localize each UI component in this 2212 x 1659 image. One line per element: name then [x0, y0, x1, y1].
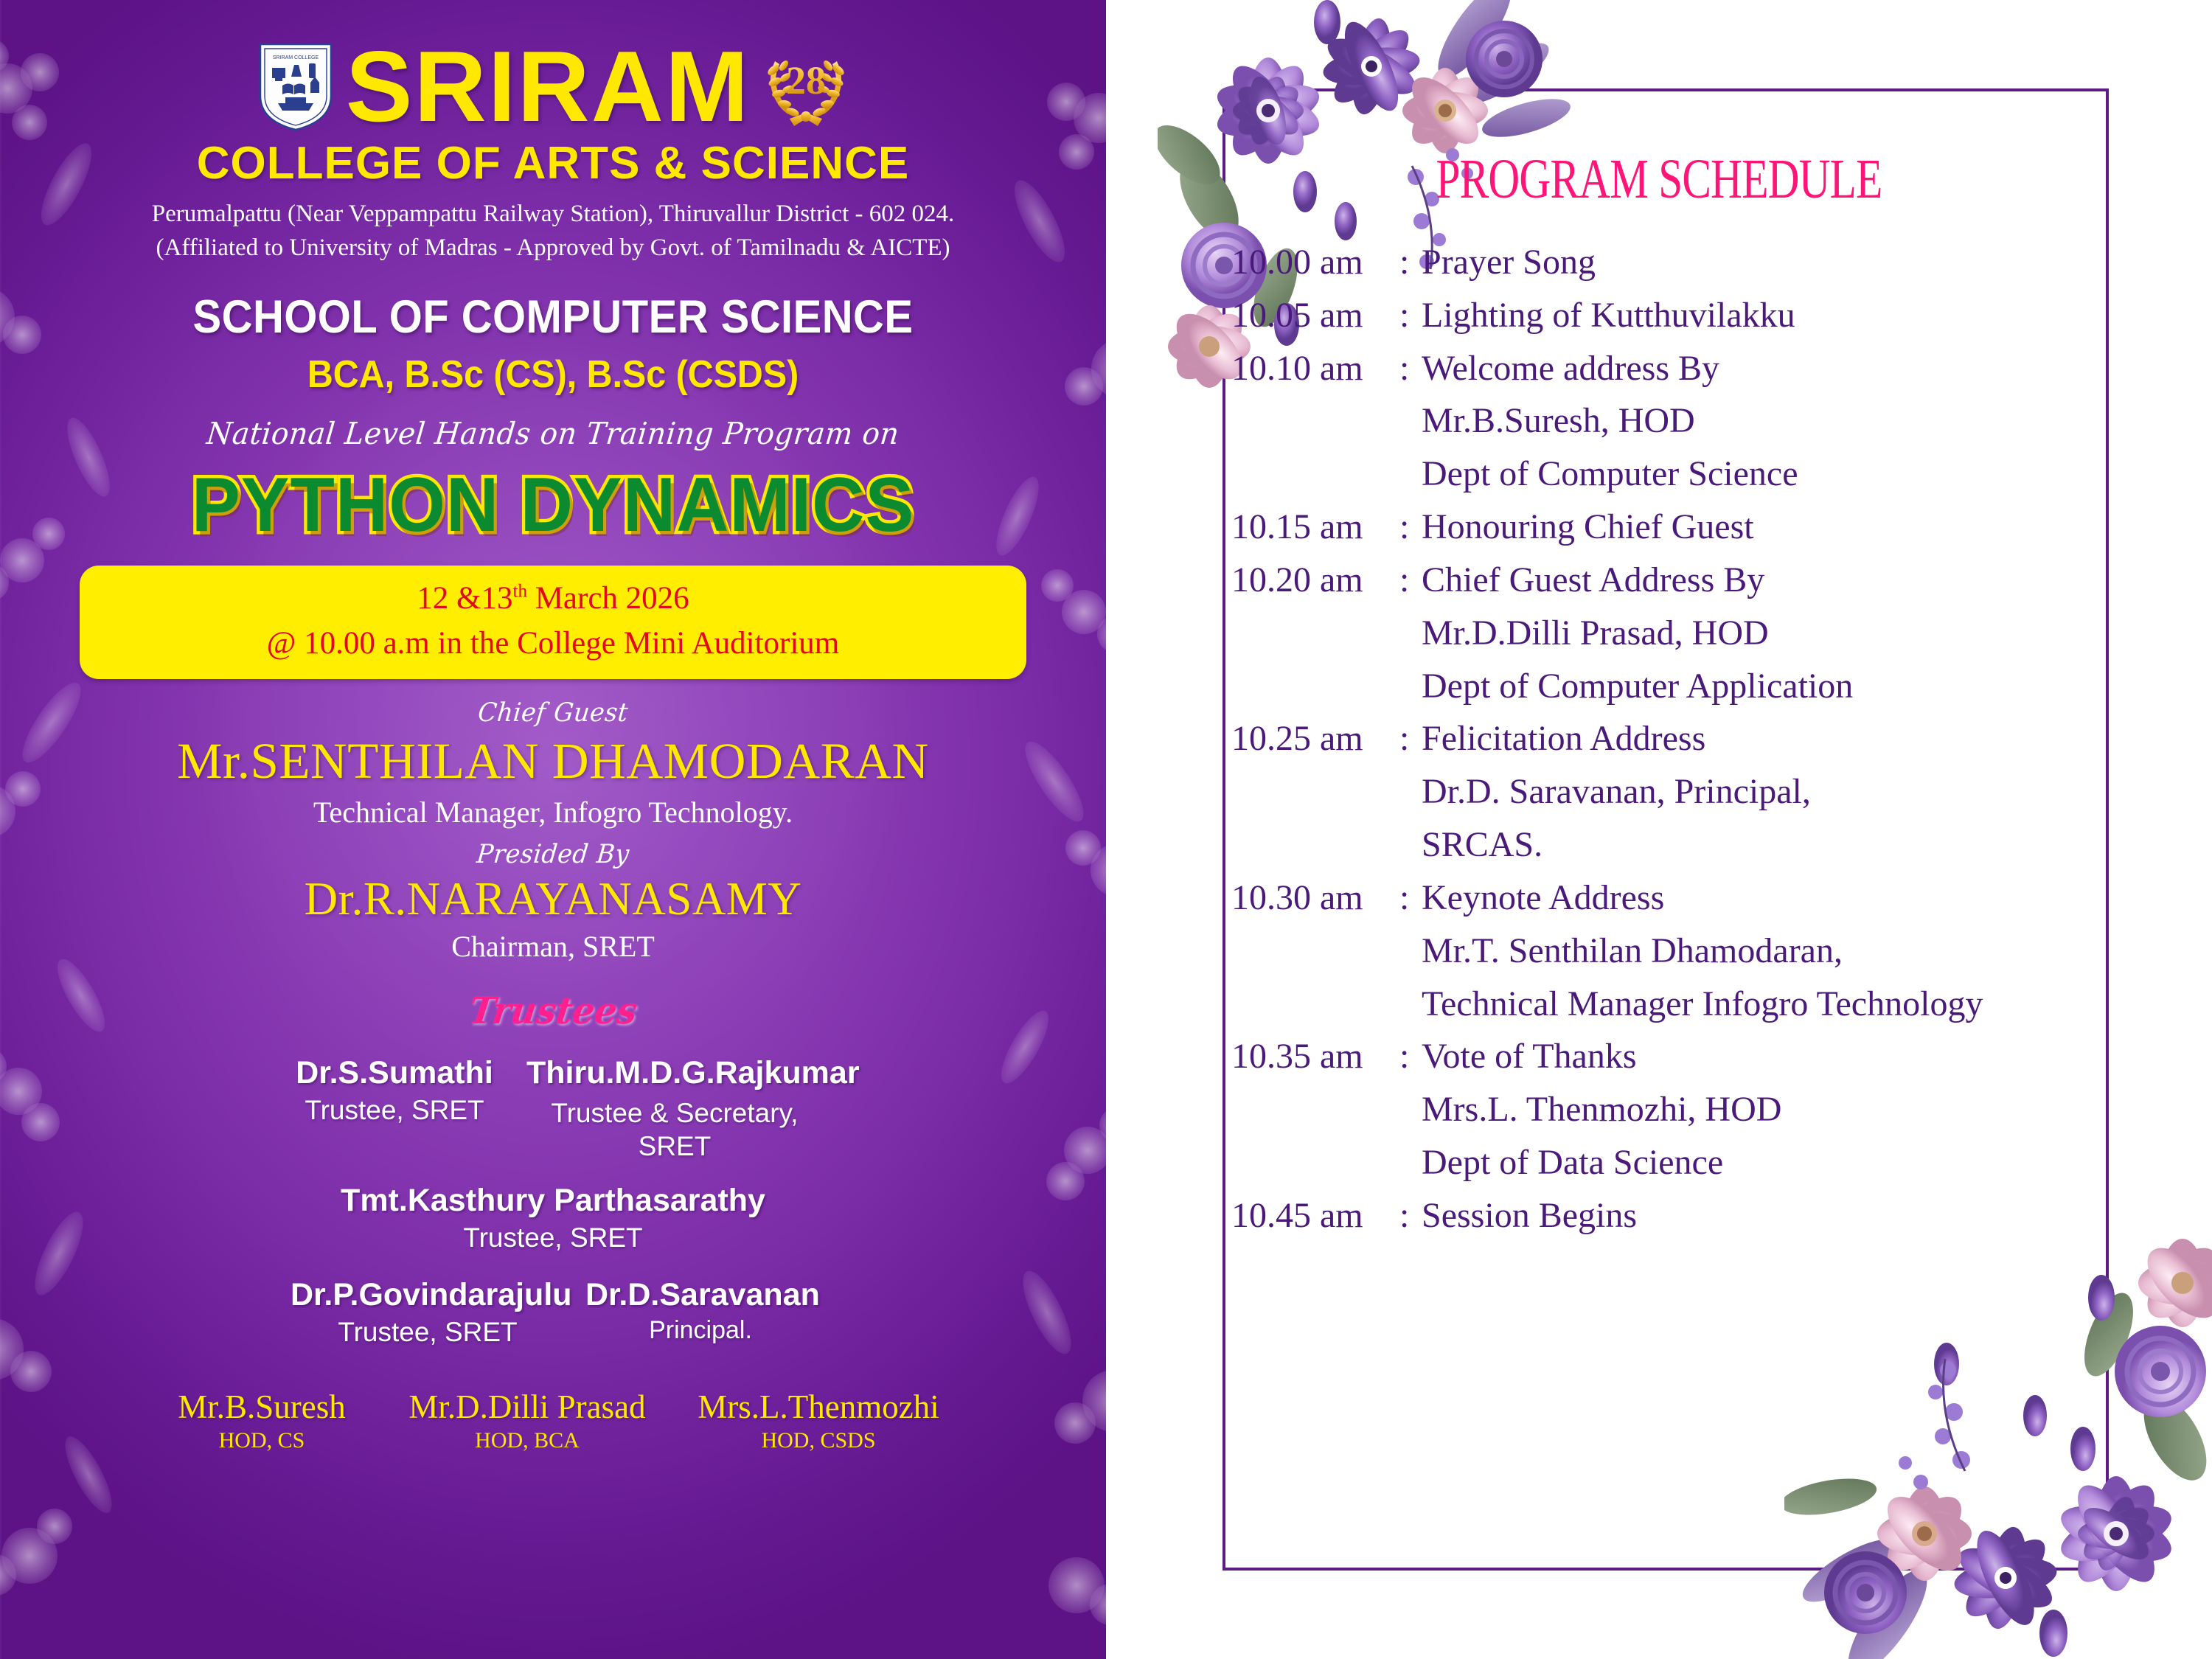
schedule-detail-line: SRCAS.	[1422, 826, 2160, 864]
list-item: Mrs.L.Thenmozhi HOD, CSDS	[675, 1388, 962, 1453]
schedule-detail-line: Dr.D. Saravanan, Principal,	[1422, 773, 2160, 811]
list-item: Tmt.Kasthury Parthasarathy Trustee, SRET	[330, 1182, 776, 1254]
trustee-name: Dr.D.Saravanan	[585, 1276, 815, 1314]
courses-offered: BCA, B.Sc (CS), B.Sc (CSDS)	[100, 352, 1006, 397]
schedule-separator: :	[1399, 1197, 1422, 1235]
presided-by-role: Chairman, SRET	[66, 929, 1040, 964]
trustee-name: Tmt.Kasthury Parthasarathy	[341, 1182, 765, 1220]
schedule-separator: :	[1399, 349, 1422, 388]
hod-role: HOD, CS	[153, 1428, 371, 1453]
trustee-name: Thiru.M.D.G.Rajkumar	[526, 1054, 823, 1092]
college-name: SRIRAM	[346, 38, 750, 135]
hod-name: Mr.D.Dilli Prasad	[389, 1388, 666, 1425]
anniversary-laurel-icon: 28	[762, 45, 850, 128]
college-address-line-1: Perumalpattu (Near Veppampattu Railway S…	[66, 198, 1040, 230]
trustee-role: Trustee, SRET	[283, 1093, 506, 1127]
program-title: PYTHON DYNAMICS	[91, 462, 1015, 549]
trustee-role: Trustee, SRET	[291, 1315, 565, 1349]
list-item: Dr.D.Saravanan Principal.	[575, 1276, 826, 1346]
list-item: Dr.P.Govindarajulu Trustee, SRET	[280, 1276, 575, 1349]
schedule-separator: :	[1399, 879, 1422, 917]
presided-by-label: Presided By	[89, 840, 1017, 869]
schedule-time: 10.35 am	[1231, 1037, 1399, 1076]
anniversary-number: 28	[786, 58, 826, 102]
schedule-activity: Felicitation Address	[1422, 720, 1705, 758]
trustee-role: Trustee & Secretary, SRET	[526, 1096, 823, 1163]
svg-text:SRIRAM COLLEGE: SRIRAM COLLEGE	[273, 55, 319, 60]
schedule-activity: Chief Guest Address By	[1422, 561, 1764, 599]
schedule-time: 10.05 am	[1231, 296, 1399, 335]
schedule-detail-line: Technical Manager Infogro Technology	[1422, 985, 2160, 1023]
schedule-time: 10.25 am	[1231, 720, 1399, 758]
left-invitation-panel: SRIRAM COLLEGE SRIRAM	[0, 0, 1106, 1659]
program-kicker: National Level Hands on Training Program…	[89, 416, 1018, 451]
schedule-time: 10.00 am	[1231, 243, 1399, 282]
trustee-role: Trustee, SRET	[341, 1221, 765, 1254]
college-subtitle: COLLEGE OF ARTS & SCIENCE	[66, 139, 1040, 187]
event-venue: @ 10.00 a.m in the College Mini Auditori…	[97, 621, 1009, 666]
schedule-row: 10.30 am:Keynote Address	[1231, 879, 2160, 917]
trustee-role: Principal.	[585, 1315, 815, 1346]
school-name: SCHOOL OF COMPUTER SCIENCE	[105, 291, 1001, 344]
schedule-detail-line: Mr.T. Senthilan Dhamodaran,	[1422, 932, 2160, 970]
schedule-activity: Welcome address By	[1422, 349, 1719, 388]
college-crest-logo: SRIRAM COLLEGE	[256, 40, 335, 133]
trustees-heading: Trustees	[88, 989, 1018, 1032]
schedule-activity: Keynote Address	[1422, 879, 1664, 917]
trustee-name: Dr.P.Govindarajulu	[291, 1276, 565, 1314]
schedule-activity: Session Begins	[1422, 1197, 1637, 1235]
event-date: 12 &13th March 2026	[97, 576, 1009, 621]
schedule-row: 10.35 am:Vote of Thanks	[1231, 1037, 2160, 1076]
hod-role: HOD, CSDS	[684, 1428, 953, 1453]
schedule-separator: :	[1399, 561, 1422, 599]
schedule-activity: Prayer Song	[1422, 243, 1596, 282]
presided-by-name: Dr.R.NARAYANASAMY	[66, 872, 1040, 926]
schedule-separator: :	[1399, 1037, 1422, 1076]
trustee-row: Dr.P.Govindarajulu Trustee, SRET Dr.D.Sa…	[66, 1276, 1040, 1349]
schedule-detail-line: Dept of Computer Science	[1422, 455, 2160, 493]
trustee-row: Tmt.Kasthury Parthasarathy Trustee, SRET	[66, 1182, 1040, 1254]
chief-guest-name: Mr.SENTHILAN DHAMODARAN	[66, 732, 1040, 790]
list-item: Thiru.M.D.G.Rajkumar Trustee & Secretary…	[516, 1054, 833, 1163]
schedule-detail-line: Mrs.L. Thenmozhi, HOD	[1422, 1091, 2160, 1129]
schedule-time: 10.15 am	[1231, 508, 1399, 546]
list-item: Dr.S.Sumathi Trustee, SRET	[273, 1054, 516, 1127]
invitation-poster: SRIRAM COLLEGE SRIRAM	[0, 0, 2212, 1659]
right-schedule-panel: PROGRAM SCHEDULE 10.00 am:Prayer Song10.…	[1106, 0, 2212, 1659]
program-schedule-list: 10.00 am:Prayer Song10.05 am:Lighting of…	[1231, 243, 2160, 1250]
schedule-separator: :	[1399, 508, 1422, 546]
schedule-activity: Honouring Chief Guest	[1422, 508, 1754, 546]
schedule-separator: :	[1399, 720, 1422, 758]
schedule-activity: Vote of Thanks	[1422, 1037, 1637, 1076]
trustee-name: Dr.S.Sumathi	[283, 1054, 506, 1092]
schedule-row: 10.00 am:Prayer Song	[1231, 243, 2160, 282]
schedule-separator: :	[1399, 243, 1422, 282]
schedule-time: 10.20 am	[1231, 561, 1399, 599]
hod-role: HOD, BCA	[389, 1428, 666, 1453]
chief-guest-role: Technical Manager, Infogro Technology.	[66, 795, 1040, 829]
date-venue-banner: 12 &13th March 2026 @ 10.00 a.m in the C…	[80, 566, 1026, 679]
list-item: Mr.B.Suresh HOD, CS	[144, 1388, 380, 1453]
schedule-activity: Lighting of Kutthuvilakku	[1422, 296, 1795, 335]
schedule-row: 10.10 am:Welcome address By	[1231, 349, 2160, 388]
schedule-row: 10.25 am:Felicitation Address	[1231, 720, 2160, 758]
chief-guest-label: Chief Guest	[89, 698, 1017, 728]
schedule-row: 10.05 am:Lighting of Kutthuvilakku	[1231, 296, 2160, 335]
college-brand-row: SRIRAM COLLEGE SRIRAM	[66, 38, 1040, 135]
schedule-row: 10.45 am:Session Begins	[1231, 1197, 2160, 1235]
schedule-detail-line: Mr.D.Dilli Prasad, HOD	[1422, 614, 2160, 653]
page-title: PROGRAM SCHEDULE	[1228, 147, 2090, 212]
trustees-list: Dr.S.Sumathi Trustee, SRET Thiru.M.D.G.R…	[66, 1054, 1040, 1349]
schedule-row: 10.20 am:Chief Guest Address By	[1231, 561, 2160, 599]
trustee-row: Dr.S.Sumathi Trustee, SRET Thiru.M.D.G.R…	[66, 1054, 1040, 1163]
college-affiliation-line: (Affiliated to University of Madras - Ap…	[66, 232, 1040, 264]
hod-name: Mrs.L.Thenmozhi	[684, 1388, 953, 1425]
schedule-time: 10.45 am	[1231, 1197, 1399, 1235]
schedule-time: 10.10 am	[1231, 349, 1399, 388]
schedule-time: 10.30 am	[1231, 879, 1399, 917]
list-item: Mr.D.Dilli Prasad HOD, BCA	[380, 1388, 675, 1453]
hod-list: Mr.B.Suresh HOD, CS Mr.D.Dilli Prasad HO…	[66, 1388, 1040, 1453]
schedule-detail-line: Dept of Data Science	[1422, 1144, 2160, 1182]
hod-name: Mr.B.Suresh	[153, 1388, 371, 1425]
schedule-detail-line: Dept of Computer Application	[1422, 667, 2160, 706]
schedule-row: 10.15 am:Honouring Chief Guest	[1231, 508, 2160, 546]
schedule-detail-line: Mr.B.Suresh, HOD	[1422, 402, 2160, 440]
schedule-separator: :	[1399, 296, 1422, 335]
